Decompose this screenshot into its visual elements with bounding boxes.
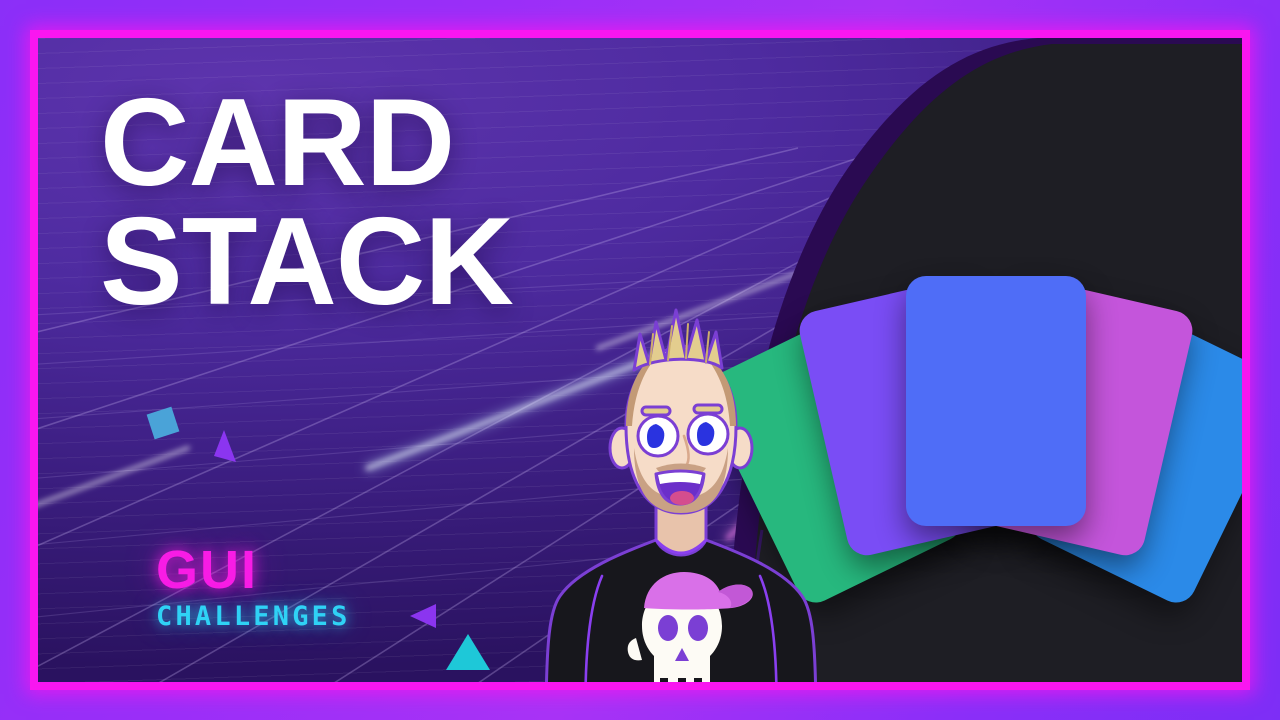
logo-challenges-text: CHALLENGES [156, 603, 351, 630]
page-title: CARDSTACK [100, 84, 513, 322]
avatar-eyebrow-right [694, 405, 722, 413]
skull-eye-right [688, 615, 708, 641]
card-blue-front[interactable] [906, 276, 1086, 526]
logo-gui-text: GUI [156, 543, 351, 597]
gui-challenges-logo: GUI CHALLENGES [156, 543, 351, 630]
host-avatar [516, 308, 846, 682]
poster-canvas: CARDSTACK [38, 38, 1242, 682]
title-line-1: CARD [100, 74, 454, 212]
poster-stage: CARDSTACK [0, 0, 1280, 720]
title-line-2: STACK [100, 193, 513, 331]
avatar-tongue [670, 491, 694, 505]
avatar-eyebrow-left [642, 407, 670, 415]
skull-eye-left [658, 615, 678, 641]
card-stack[interactable] [786, 246, 1242, 666]
